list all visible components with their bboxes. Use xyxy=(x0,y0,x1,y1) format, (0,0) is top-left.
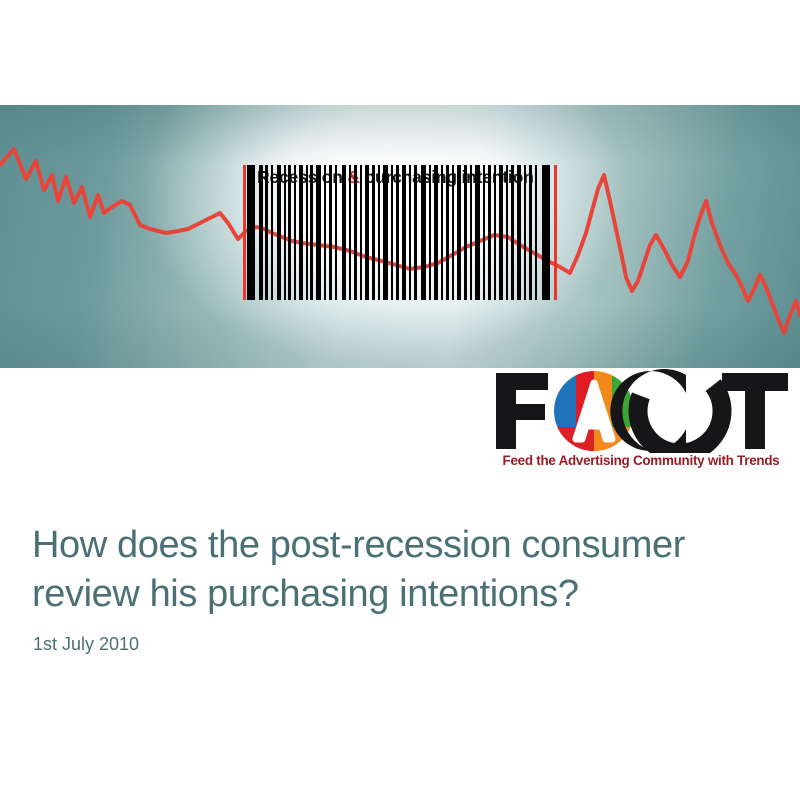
barcode-bar xyxy=(354,165,357,300)
barcode-guard-black-right xyxy=(542,165,550,300)
barcode-bar xyxy=(378,165,380,300)
barcode-bars xyxy=(243,191,558,300)
fact-letter-t xyxy=(722,373,788,449)
barcode-bar xyxy=(470,165,472,300)
barcode-bar xyxy=(529,165,532,300)
barcode-bar xyxy=(414,165,417,300)
barcode-guard-red-right xyxy=(554,165,557,300)
barcode-bar xyxy=(535,165,537,300)
fact-logo-tagline: Feed the Advertising Community with Tren… xyxy=(492,453,790,468)
barcode-bar xyxy=(383,165,388,300)
barcode-bar xyxy=(288,165,291,300)
barcode-bar xyxy=(483,165,485,300)
barcode-bar xyxy=(329,165,332,300)
barcode-guard-red-left xyxy=(243,165,246,300)
barcode-bar xyxy=(259,165,263,300)
hero-banner: Recession & purchasing intention xyxy=(0,105,800,368)
barcode-bar xyxy=(299,165,303,300)
barcode-bar xyxy=(365,165,369,300)
barcode-graphic: Recession & purchasing intention xyxy=(243,165,558,302)
barcode-bar xyxy=(494,165,496,300)
barcode-guard-black-left xyxy=(247,165,255,300)
barcode-bar xyxy=(306,165,308,300)
barcode-bar xyxy=(464,165,467,300)
barcode-bar xyxy=(517,165,521,300)
barcode-bar xyxy=(402,165,406,300)
barcode-bar xyxy=(446,165,449,300)
barcode-bar xyxy=(488,165,491,300)
barcode-bar xyxy=(421,165,426,300)
barcode-bar xyxy=(360,165,362,300)
barcode-bar xyxy=(316,165,321,300)
barcode-bar xyxy=(396,165,399,300)
barcode-bar xyxy=(499,165,503,300)
fact-logo: Feed the Advertising Community with Tren… xyxy=(490,369,790,477)
barcode-bar xyxy=(441,165,443,300)
barcode-bar xyxy=(409,165,411,300)
barcode-bar xyxy=(524,165,526,300)
fact-logo-mark xyxy=(490,369,790,453)
barcode-bar xyxy=(271,165,273,300)
barcode-bar xyxy=(506,165,508,300)
fact-letter-f xyxy=(496,373,548,449)
barcode-bar xyxy=(457,165,461,300)
barcode-bar xyxy=(310,165,313,300)
barcode-bar xyxy=(349,165,351,300)
title-block: How does the post-recession consumer rev… xyxy=(32,521,772,655)
barcode-bar xyxy=(342,165,346,300)
slide-date: 1st July 2010 xyxy=(33,634,772,655)
barcode-bar xyxy=(284,165,286,300)
barcode-bar xyxy=(277,165,281,300)
barcode-bar xyxy=(324,165,326,300)
barcode-bar xyxy=(434,165,438,300)
barcode-bar xyxy=(429,165,431,300)
barcode-bar xyxy=(294,165,296,300)
barcode-bar xyxy=(265,165,268,300)
barcode-bar xyxy=(335,165,337,300)
barcode-bar xyxy=(475,165,480,300)
page-title: How does the post-recession consumer rev… xyxy=(32,521,772,618)
slide-root: Recession & purchasing intention xyxy=(0,0,800,800)
barcode-bar xyxy=(452,165,454,300)
barcode-bar xyxy=(511,165,514,300)
barcode-bar xyxy=(391,165,393,300)
barcode-bar xyxy=(372,165,375,300)
